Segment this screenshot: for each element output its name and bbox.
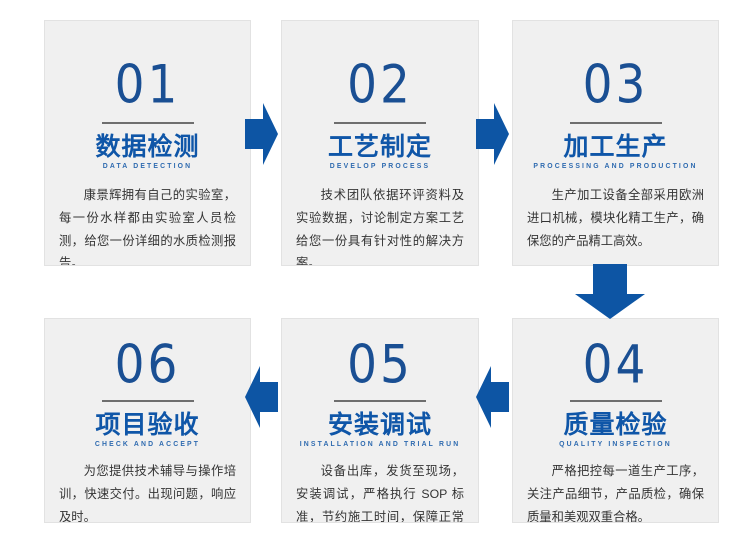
- arrow-down-icon-03-to-04: [575, 264, 645, 319]
- arrow-right-icon-02-to-03: [476, 103, 509, 165]
- step-title-cn-05: 安装调试: [282, 412, 478, 438]
- step-divider-05: [334, 400, 426, 402]
- arrow-right-icon-01-to-02: [245, 103, 278, 165]
- step-divider-03: [570, 122, 662, 124]
- step-title-cn-04: 质量检验: [513, 412, 718, 438]
- step-title-en-02: DEVELOP PROCESS: [284, 163, 476, 170]
- step-divider-04: [570, 400, 662, 402]
- step-number-02: 02: [282, 59, 478, 112]
- arrow-left-icon-04-to-05: [476, 366, 509, 428]
- step-divider-01: [102, 122, 194, 124]
- step-title-en-06: CHECK AND ACCEPT: [47, 441, 248, 448]
- step-card-04: 04 质量检验 QUALITY INSPECTION 严格把控每一道生产工序，关…: [512, 318, 719, 523]
- step-number-06: 06: [45, 339, 250, 392]
- step-title-en-03: PROCESSING AND PRODUCTION: [515, 163, 716, 170]
- step-body-02: 技术团队依据环评资料及实验数据，讨论制定方案工艺给您一份具有针对性的解决方案。: [296, 184, 464, 266]
- step-number-05: 05: [282, 339, 478, 392]
- step-body-03: 生产加工设备全部采用欧洲进口机械，模块化精工生产，确保您的产品精工高效。: [527, 184, 704, 252]
- step-divider-06: [102, 400, 194, 402]
- step-title-en-05: INSTALLATION AND TRIAL RUN: [284, 441, 476, 448]
- step-card-06: 06 项目验收 CHECK AND ACCEPT 为您提供技术辅导与操作培训，快…: [44, 318, 251, 523]
- step-card-01: 01 数据检测 DATA DETECTION 康景辉拥有自己的实验室，每一份水样…: [44, 20, 251, 266]
- step-body-06: 为您提供技术辅导与操作培训，快速交付。出现问题，响应及时。: [59, 460, 236, 523]
- step-number-01: 01: [45, 59, 250, 112]
- arrow-left-icon-05-to-06: [245, 366, 278, 428]
- step-title-cn-01: 数据检测: [45, 134, 250, 160]
- step-title-cn-02: 工艺制定: [282, 134, 478, 160]
- step-title-en-01: DATA DETECTION: [47, 163, 248, 170]
- step-number-04: 04: [513, 339, 718, 392]
- step-card-02: 02 工艺制定 DEVELOP PROCESS 技术团队依据环评资料及实验数据，…: [281, 20, 479, 266]
- step-body-01: 康景辉拥有自己的实验室，每一份水样都由实验室人员检测，给您一份详细的水质检测报告…: [59, 184, 236, 266]
- step-number-03: 03: [513, 59, 718, 112]
- step-divider-02: [334, 122, 426, 124]
- step-title-cn-03: 加工生产: [513, 134, 718, 160]
- step-title-cn-06: 项目验收: [45, 412, 250, 438]
- step-card-03: 03 加工生产 PROCESSING AND PRODUCTION 生产加工设备…: [512, 20, 719, 266]
- step-body-04: 严格把控每一道生产工序，关注产品细节，产品质检，确保质量和美观双重合格。: [527, 460, 704, 523]
- step-card-05: 05 安装调试 INSTALLATION AND TRIAL RUN 设备出库，…: [281, 318, 479, 523]
- process-flow-board: 01 数据检测 DATA DETECTION 康景辉拥有自己的实验室，每一份水样…: [0, 0, 750, 539]
- step-body-05: 设备出库，发货至现场，安装调试，严格执行 SOP 标准，节约施工时间，保障正常生…: [296, 460, 464, 523]
- step-title-en-04: QUALITY INSPECTION: [515, 441, 716, 448]
